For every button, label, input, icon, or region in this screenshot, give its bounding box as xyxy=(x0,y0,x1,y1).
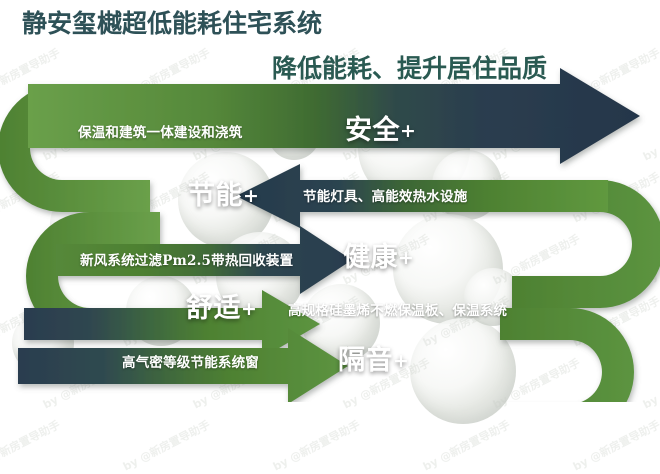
band-description-2: 节能灯具、高能效热水设施 xyxy=(303,185,467,205)
band-keyword-5: 隔音+ xyxy=(338,338,409,377)
watermark-text: by @新房置导助手 xyxy=(420,416,513,474)
band-keyword-3: 健康+ xyxy=(343,235,414,274)
band-description-4: 高规格硅墨烯不燃保温板、保温系统 xyxy=(288,299,507,319)
band-keyword-plus-3: + xyxy=(398,247,414,269)
band-keyword-text-2: 节能 xyxy=(188,180,243,211)
band-description-3: 新风系统过滤Pm2.5带热回收装置 xyxy=(80,249,293,269)
band-description-1: 保温和建筑一体建设和浇筑 xyxy=(78,121,242,141)
band-keyword-4: 舒适+ xyxy=(186,286,257,325)
band-description-5: 高气密等级节能系统窗 xyxy=(122,351,259,371)
watermark-text: by @新房置导助手 xyxy=(120,416,213,474)
band-keyword-text-3: 健康 xyxy=(343,242,398,273)
band-keyword-plus-5: + xyxy=(393,350,409,372)
band-keyword-1: 安全+ xyxy=(345,108,416,147)
page-subtitle: 降低能耗、提升居住品质 xyxy=(272,49,547,85)
band-keyword-plus-2: + xyxy=(243,185,259,207)
band-keyword-2: 节能+ xyxy=(188,173,259,212)
band-keyword-plus-1: + xyxy=(400,120,416,142)
band-keyword-text-4: 舒适 xyxy=(186,293,241,324)
watermark-text: by @新房置导助手 xyxy=(570,416,660,474)
page-title: 静安玺樾超低能耗住宅系统 xyxy=(22,4,322,40)
slide-canvas: by @新房置导助手by @新房置导助手by @新房置导助手by @新房置导助手… xyxy=(0,0,660,402)
watermark-text: by @新房置导助手 xyxy=(270,416,363,474)
band-keyword-text-1: 安全 xyxy=(345,115,400,146)
band-keyword-text-5: 隔音 xyxy=(338,345,393,376)
watermark-text: by @新房置导助手 xyxy=(0,416,63,474)
band-keyword-plus-4: + xyxy=(241,298,257,320)
